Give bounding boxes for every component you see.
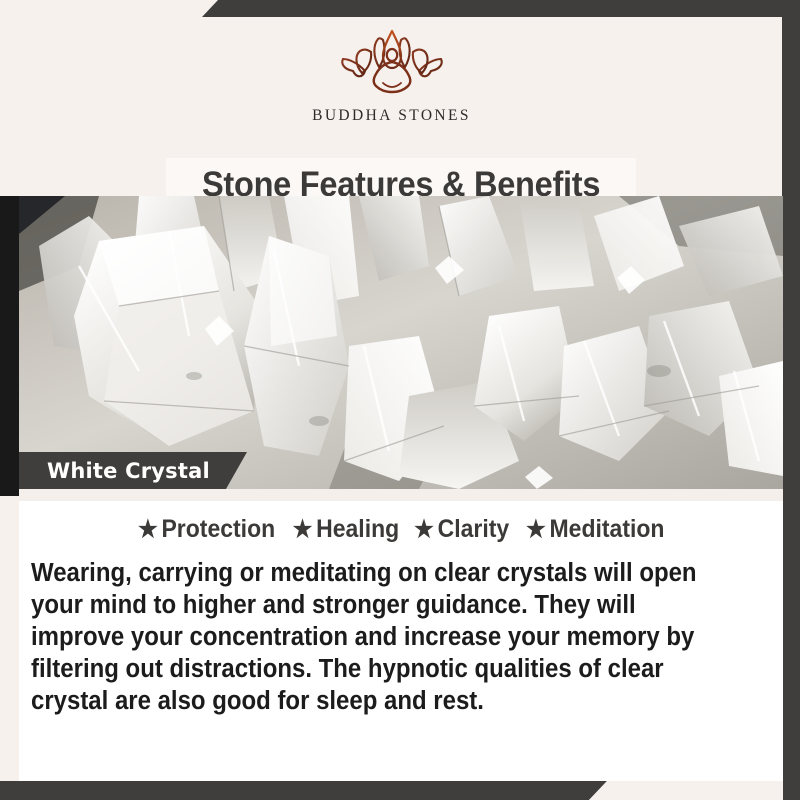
right-accent-edge: [782, 0, 800, 800]
header-section: BUDDHA STONES Stone Features & Benefits: [0, 17, 783, 196]
benefit-item: ★Protection: [138, 515, 275, 544]
star-icon: ★: [526, 516, 546, 543]
left-accent-edge: [0, 196, 19, 496]
stone-name-label: White Crystal: [47, 459, 210, 483]
bottom-corner-cream: [589, 781, 783, 800]
benefits-list: ★Protection ★Healing ★Clarity ★Meditatio…: [19, 515, 783, 544]
photo-underline-strip: [19, 489, 783, 501]
star-icon: ★: [292, 516, 312, 543]
crystal-photo-art: [19, 196, 783, 489]
white-crystal-cluster-photo: [19, 196, 783, 489]
stone-name-badge: White Crystal: [19, 452, 247, 489]
benefit-label: Clarity: [437, 515, 509, 543]
star-icon: ★: [138, 516, 158, 543]
benefit-item: ★Clarity: [414, 515, 509, 544]
lotus-meditation-logo-icon: [333, 25, 451, 105]
brand-name: BUDDHA STONES: [0, 107, 783, 125]
benefit-item: ★Healing: [292, 515, 399, 544]
description-text: Wearing, carrying or meditating on clear…: [31, 557, 728, 717]
poster-canvas: BUDDHA STONES Stone Features & Benefits: [0, 0, 800, 800]
benefit-label: Meditation: [549, 515, 664, 543]
brand-logo: BUDDHA STONES: [0, 25, 783, 125]
benefit-label: Healing: [316, 515, 399, 543]
benefit-label: Protection: [161, 515, 275, 543]
benefit-item: ★Meditation: [526, 515, 664, 544]
content-section: ★Protection ★Healing ★Clarity ★Meditatio…: [19, 501, 783, 781]
star-icon: ★: [414, 516, 434, 543]
